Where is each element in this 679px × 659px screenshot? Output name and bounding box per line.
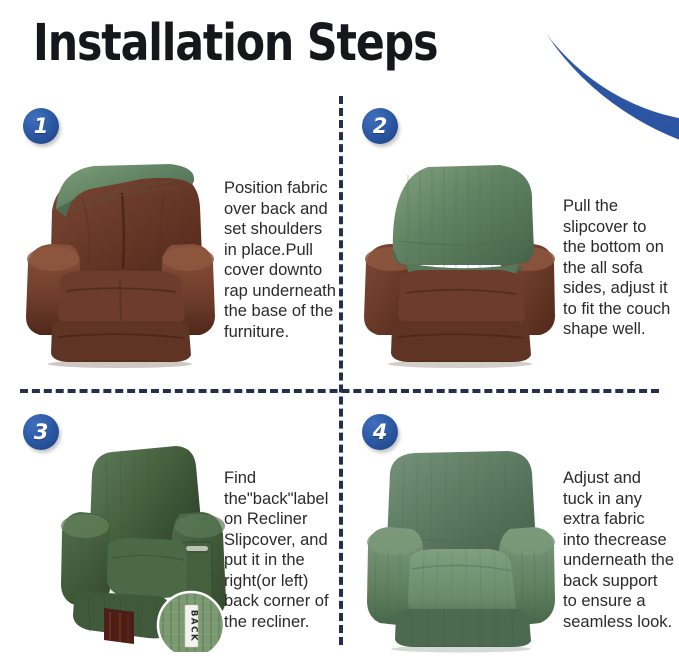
step-badge-1: 1 [23,108,59,144]
step-badge-3: 3 [23,414,59,450]
step-description-4: Adjust and tuck in any extra fabric into… [563,468,675,632]
recliner-with-draped-fabric-image [22,145,217,370]
step-description-3: Find the"back"label on Recliner Slipcove… [224,468,338,632]
corner-swoosh-cutout [493,0,679,122]
page-title: Installation Steps [33,14,437,73]
installation-steps-page: Installation Steps 1 [0,0,679,659]
finished-covered-recliner-front-image [366,445,556,653]
vertical-divider [339,96,343,645]
blue-corner-swoosh-icon [507,0,679,162]
step-description-2: Pull the slipcover to the bottom on the … [563,196,673,340]
covered-recliner-angled-with-pocket-image: BACK [60,440,230,652]
recliner-cover-pulled-over-back-image [362,145,557,370]
step-badge-2: 2 [362,108,398,144]
svg-text:BACK: BACK [189,610,199,642]
step-description-1: Position fabric over back and set should… [224,178,336,342]
